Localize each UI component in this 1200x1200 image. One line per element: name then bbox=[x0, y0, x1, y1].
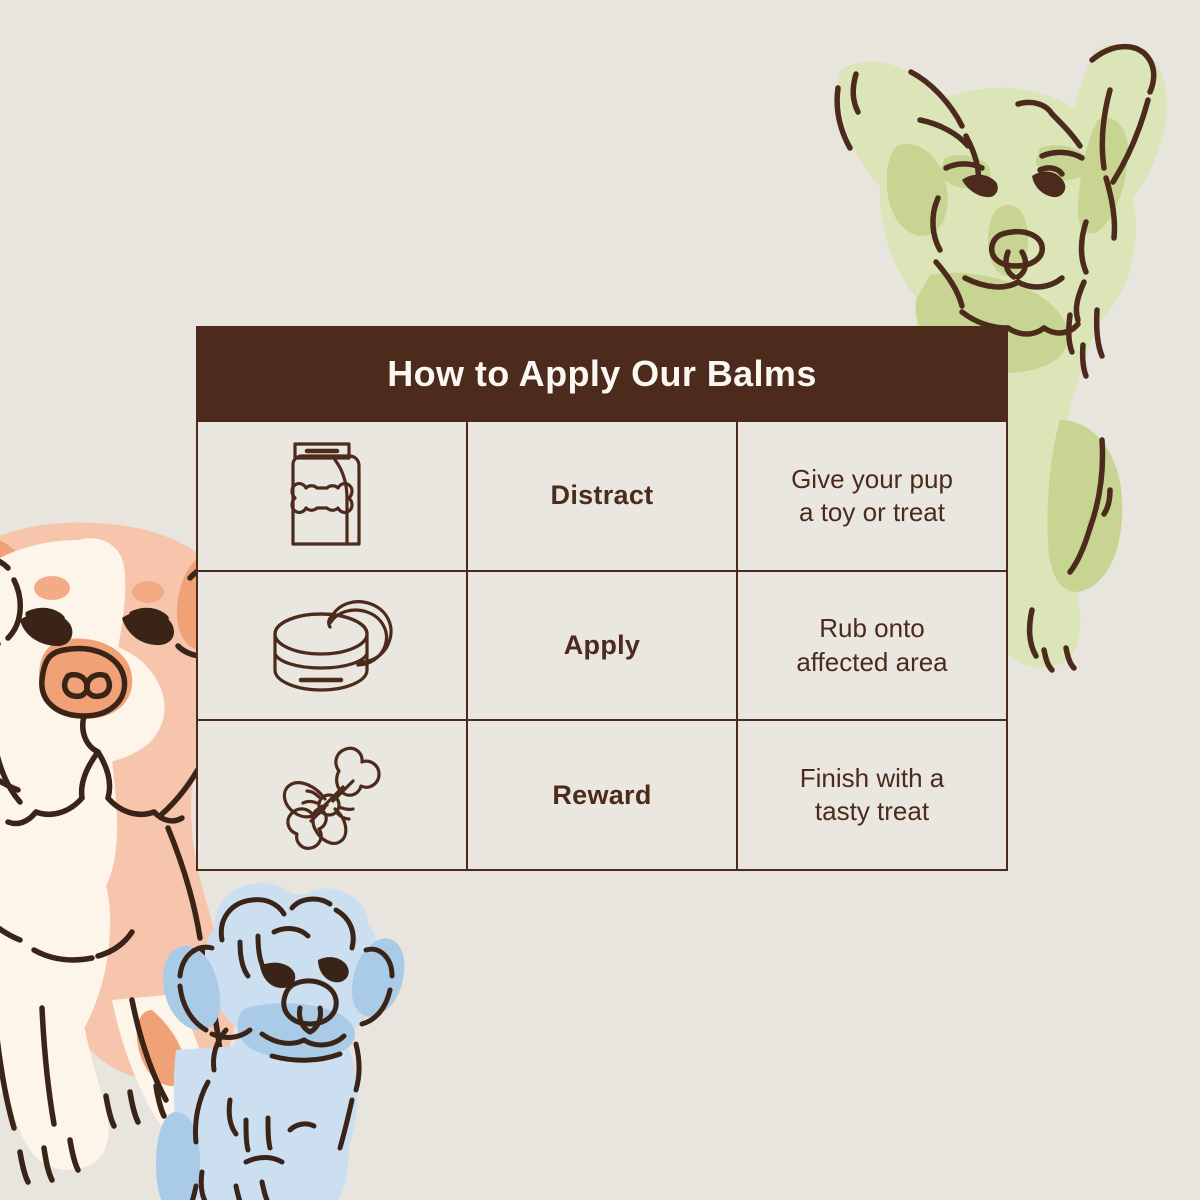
table-row: Distract Give your pup a toy or treat bbox=[198, 422, 1006, 572]
description-line-1: Rub onto bbox=[819, 613, 925, 643]
description-line-2: affected area bbox=[796, 647, 947, 677]
step-label: Apply bbox=[564, 630, 641, 661]
table-row: Apply Rub onto affected area bbox=[198, 572, 1006, 722]
description-line-1: Give your pup bbox=[791, 464, 953, 494]
table-header: How to Apply Our Balms bbox=[196, 326, 1008, 422]
bone-with-bow-icon bbox=[257, 735, 407, 855]
cell-description: Finish with a tasty treat bbox=[738, 721, 1006, 869]
step-label: Distract bbox=[551, 480, 654, 511]
cell-step: Apply bbox=[468, 572, 738, 720]
description-text: Rub onto affected area bbox=[796, 612, 947, 679]
treat-bag-icon bbox=[257, 436, 407, 556]
description-line-2: a toy or treat bbox=[799, 497, 945, 527]
description-text: Give your pup a toy or treat bbox=[791, 463, 953, 530]
cell-description: Rub onto affected area bbox=[738, 572, 1006, 720]
poster-canvas: How to Apply Our Balms bbox=[0, 0, 1200, 1200]
cell-icon bbox=[198, 572, 468, 720]
cell-description: Give your pup a toy or treat bbox=[738, 422, 1006, 570]
how-to-apply-table: How to Apply Our Balms bbox=[196, 326, 1008, 871]
page-title: How to Apply Our Balms bbox=[387, 356, 817, 392]
cell-step: Distract bbox=[468, 422, 738, 570]
cell-icon bbox=[198, 721, 468, 869]
balm-tin-icon bbox=[257, 586, 407, 706]
table-body: Distract Give your pup a toy or treat bbox=[196, 422, 1008, 871]
cell-icon bbox=[198, 422, 468, 570]
cell-step: Reward bbox=[468, 721, 738, 869]
table-row: Reward Finish with a tasty treat bbox=[198, 721, 1006, 869]
step-label: Reward bbox=[552, 780, 651, 811]
description-line-1: Finish with a bbox=[800, 763, 945, 793]
description-text: Finish with a tasty treat bbox=[800, 762, 945, 829]
description-line-2: tasty treat bbox=[815, 796, 929, 826]
